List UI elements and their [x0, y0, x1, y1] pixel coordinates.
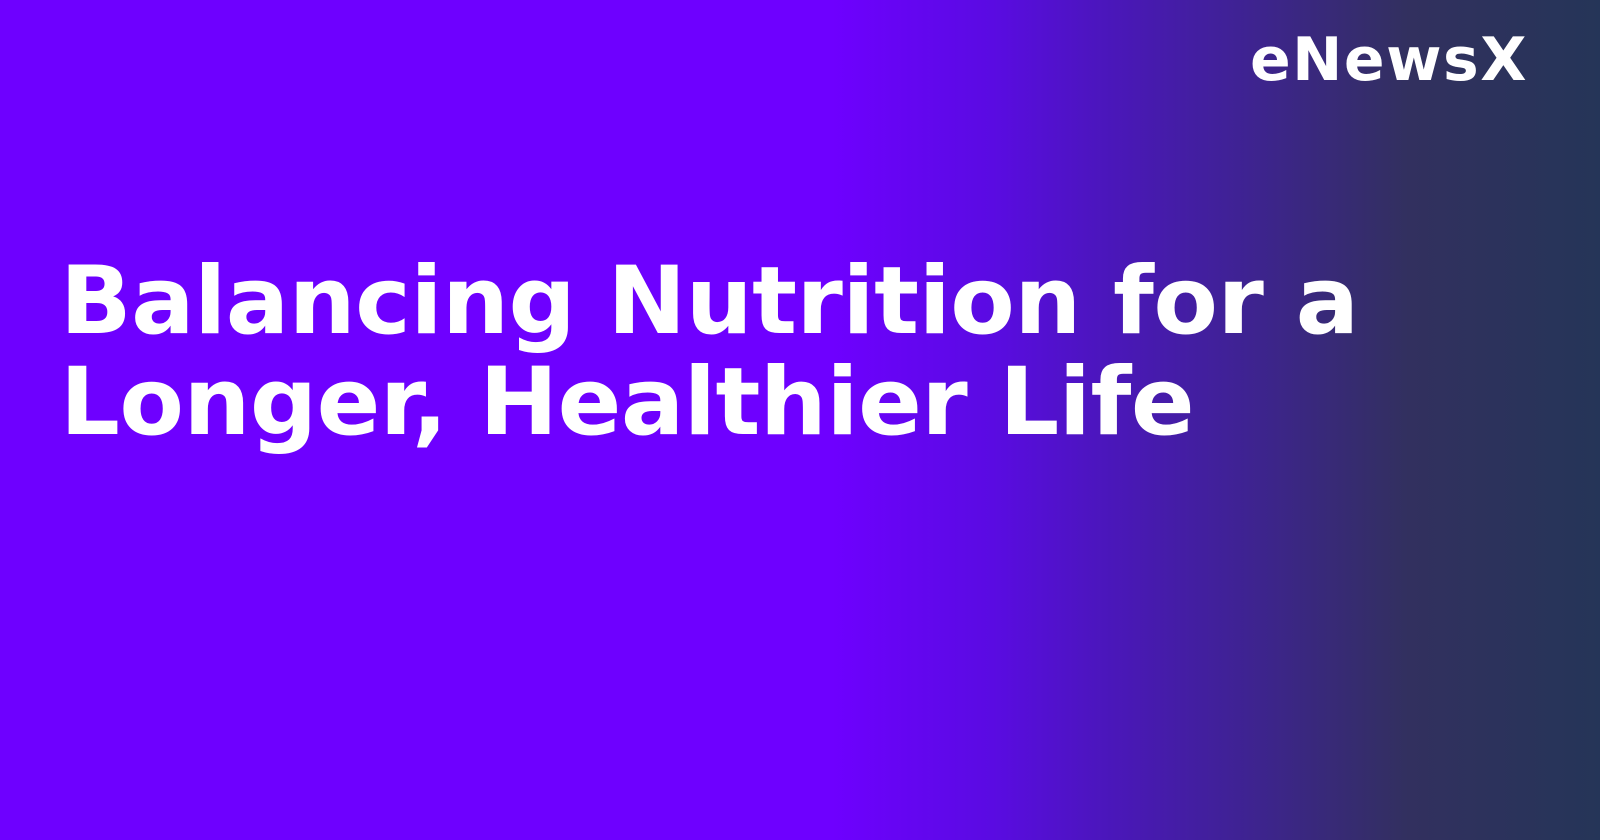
- enewsx-logo[interactable]: eNewsX: [1250, 30, 1528, 90]
- article-banner: eNewsX Balancing Nutrition for a Longer,…: [0, 0, 1600, 840]
- article-headline: Balancing Nutrition for a Longer, Health…: [60, 252, 1360, 453]
- content-area: [60, 470, 1540, 840]
- brand-bar: eNewsX: [0, 0, 1600, 120]
- headline-block: Balancing Nutrition for a Longer, Health…: [60, 252, 1360, 453]
